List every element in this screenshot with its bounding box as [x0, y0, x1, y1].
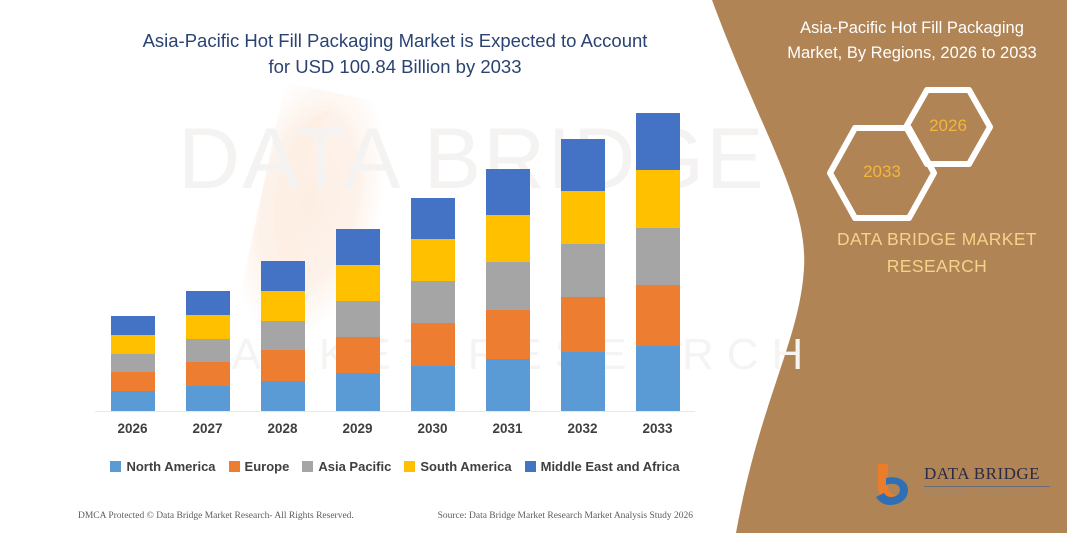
bar-segment [336, 229, 380, 265]
bar-segment [636, 346, 680, 412]
hexagon-group: 2033 2026 [818, 86, 1018, 206]
data-bridge-logo-wordmark: DATA BRIDGE MARKET RESEARCH [924, 464, 1052, 497]
bar-segment [636, 285, 680, 346]
bar-segment [636, 228, 680, 284]
bar-segment [186, 339, 230, 362]
legend-swatch-icon [404, 461, 415, 472]
chart-title: Asia-Pacific Hot Fill Packaging Market i… [95, 28, 695, 80]
panel-brand-line-1: DATA BRIDGE MARKET [812, 226, 1062, 253]
bar-2031 [486, 169, 530, 412]
bar-segment [261, 350, 305, 381]
bar-segment [486, 169, 530, 216]
legend-item-north-america[interactable]: North America [110, 459, 215, 474]
panel-brand-line-2: RESEARCH [812, 253, 1062, 280]
x-axis-label-2031: 2031 [478, 421, 538, 436]
bar-segment [186, 315, 230, 339]
bar-2029 [336, 229, 380, 412]
x-axis-label-2032: 2032 [553, 421, 613, 436]
bar-segment [261, 261, 305, 291]
bar-segment [411, 198, 455, 239]
chart-title-line-1: Asia-Pacific Hot Fill Packaging Market i… [95, 28, 695, 54]
bar-segment [111, 335, 155, 354]
bar-segment [186, 386, 230, 412]
bar-segment [111, 354, 155, 372]
footer-dmca: DMCA Protected © Data Bridge Market Rese… [78, 511, 354, 521]
bar-2027 [186, 291, 230, 412]
bar-segment [336, 265, 380, 301]
bar-segment [561, 191, 605, 244]
bar-segment [261, 321, 305, 350]
legend-swatch-icon [110, 461, 121, 472]
x-axis-label-2026: 2026 [103, 421, 163, 436]
bar-segment [561, 297, 605, 352]
bar-segment [411, 239, 455, 281]
bar-segment [561, 352, 605, 412]
legend-item-asia-pacific[interactable]: Asia Pacific [302, 459, 391, 474]
bar-segment [261, 381, 305, 412]
bar-segment [486, 262, 530, 310]
bar-segment [111, 372, 155, 391]
infographic-root: DATA BRIDGE MARKET RESEARCH Asia-Pacific… [0, 0, 1067, 533]
bar-segment [486, 310, 530, 359]
x-axis-label-2029: 2029 [328, 421, 388, 436]
legend-label: North America [126, 459, 215, 474]
legend-item-europe[interactable]: Europe [229, 459, 290, 474]
bar-segment [486, 215, 530, 262]
bar-segment [411, 366, 455, 412]
bar-segment [411, 323, 455, 366]
bar-segment [111, 391, 155, 412]
bar-2033 [636, 113, 680, 412]
bar-segment [486, 359, 530, 412]
bar-segment [336, 373, 380, 412]
bar-segment [636, 170, 680, 229]
legend-label: Middle East and Africa [541, 459, 680, 474]
legend-label: South America [420, 459, 511, 474]
panel-title-line-1: Asia-Pacific Hot Fill Packaging [762, 16, 1062, 41]
legend-item-south-america[interactable]: South America [404, 459, 511, 474]
bar-2030 [411, 198, 455, 412]
bar-segment [186, 362, 230, 387]
chart-legend: North AmericaEuropeAsia PacificSouth Ame… [95, 456, 695, 476]
logo-title: DATA BRIDGE [924, 464, 1052, 484]
bar-segment [186, 291, 230, 315]
bar-2032 [561, 139, 605, 412]
bar-2028 [261, 261, 305, 412]
legend-label: Europe [245, 459, 290, 474]
data-bridge-logo-mark-icon [872, 462, 918, 508]
bar-segment [636, 113, 680, 170]
bar-segment [561, 244, 605, 296]
x-axis-label-2030: 2030 [403, 421, 463, 436]
bar-segment [261, 291, 305, 320]
panel-brand-text: DATA BRIDGE MARKET RESEARCH [812, 226, 1062, 280]
panel-title: Asia-Pacific Hot Fill Packaging Market, … [762, 16, 1062, 66]
panel-title-line-2: Market, By Regions, 2026 to 2033 [762, 41, 1062, 66]
legend-swatch-icon [229, 461, 240, 472]
x-axis-label-2028: 2028 [253, 421, 313, 436]
bar-segment [336, 337, 380, 374]
chart-title-line-2: for USD 100.84 Billion by 2033 [95, 54, 695, 80]
bar-segment [561, 139, 605, 191]
hexagon-2026-label: 2026 [902, 116, 994, 136]
x-axis-labels: 20262027202820292030203120322033 [95, 421, 695, 445]
legend-item-middle-east-and-africa[interactable]: Middle East and Africa [525, 459, 680, 474]
chart-plot-area [95, 100, 695, 412]
footer: DMCA Protected © Data Bridge Market Rese… [78, 508, 693, 524]
logo-subtitle: MARKET RESEARCH [924, 489, 1052, 497]
bar-segment [336, 301, 380, 336]
legend-swatch-icon [302, 461, 313, 472]
bar-segment [411, 281, 455, 323]
x-axis-baseline [95, 411, 695, 412]
hexagon-2026: 2026 [902, 86, 994, 168]
data-bridge-logo: DATA BRIDGE MARKET RESEARCH [872, 462, 1052, 508]
logo-divider [924, 486, 1050, 487]
bar-segment [111, 316, 155, 336]
legend-swatch-icon [525, 461, 536, 472]
x-axis-label-2027: 2027 [178, 421, 238, 436]
x-axis-label-2033: 2033 [628, 421, 688, 436]
footer-source: Source: Data Bridge Market Research Mark… [438, 511, 693, 521]
legend-label: Asia Pacific [318, 459, 391, 474]
bar-2026 [111, 316, 155, 412]
